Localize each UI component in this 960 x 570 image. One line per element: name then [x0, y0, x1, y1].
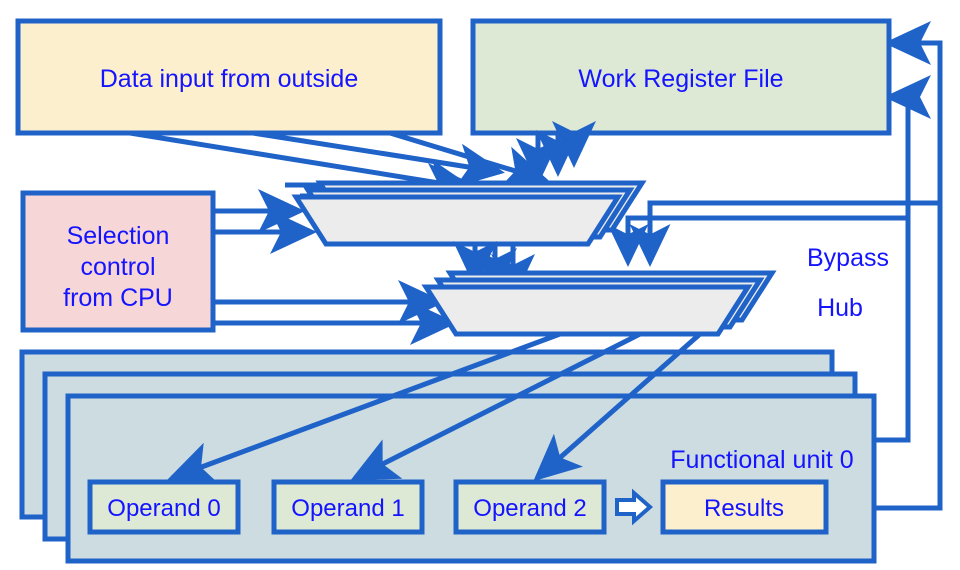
top-mux-stack[interactable]	[296, 183, 642, 244]
functional-unit-0-label: Functional unit 0	[670, 446, 853, 474]
operand-0-label: Operand 0	[107, 495, 220, 522]
results-box[interactable]: Results	[663, 482, 826, 532]
results-label: Results	[704, 495, 784, 522]
operand-2-label: Operand 2	[473, 495, 586, 522]
bypass-return-wires	[628, 203, 940, 262]
data-input-block[interactable]: Data input from outside	[18, 21, 440, 133]
diagram-canvas: Data input from outside Work Register Fi…	[0, 0, 960, 570]
data-input-arrow-2	[253, 133, 500, 172]
selection-to-top-mux-arrows	[213, 211, 312, 232]
work-register-file-label: Work Register File	[578, 65, 783, 93]
selection-control-label-line1: Selection	[67, 222, 170, 250]
bottom-mux-layer-1	[426, 287, 748, 334]
operand-box-1[interactable]: Operand 1	[274, 482, 422, 532]
operand-box-0[interactable]: Operand 0	[90, 482, 238, 532]
work-register-output-arrows	[538, 133, 574, 180]
selection-to-bottom-mux-arrows	[213, 302, 452, 323]
operand-box-2[interactable]: Operand 2	[456, 482, 604, 532]
work-register-file-block[interactable]: Work Register File	[473, 21, 889, 133]
bypass-return-upper	[650, 203, 940, 262]
hub-label: Hub	[817, 294, 863, 322]
top-mux-layer-1	[296, 197, 618, 244]
bottom-mux-stack[interactable]	[426, 273, 772, 334]
bypass-label: Bypass	[807, 244, 889, 272]
selection-control-block[interactable]: Selection control from CPU	[23, 193, 213, 330]
selection-control-label-line2: control	[80, 253, 155, 281]
block-diagram: Data input from outside Work Register Fi…	[0, 0, 960, 570]
operand-1-label: Operand 1	[291, 495, 404, 522]
bypass-hub-label: Bypass Hub	[807, 244, 889, 322]
selection-control-label-line3: from CPU	[63, 284, 173, 312]
data-input-label: Data input from outside	[100, 65, 358, 93]
